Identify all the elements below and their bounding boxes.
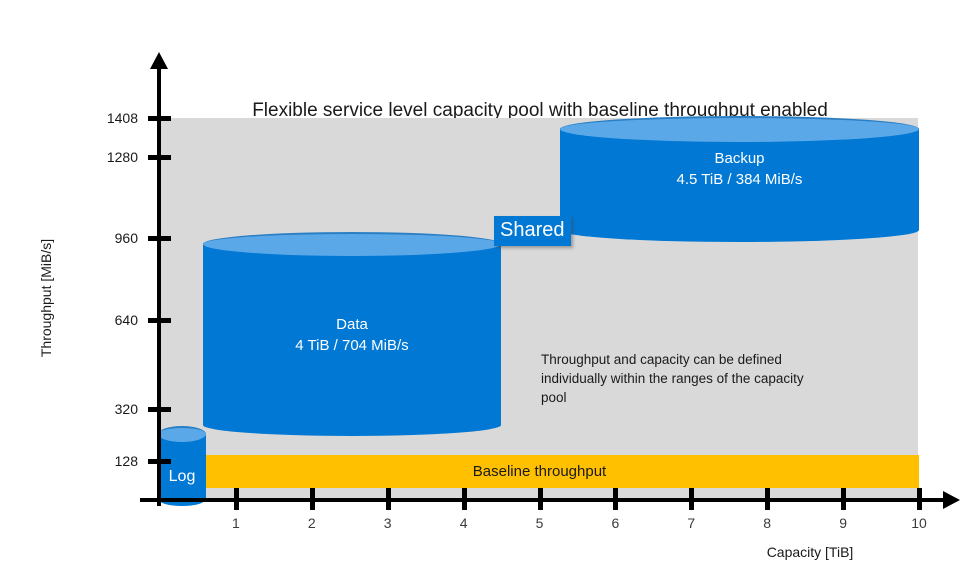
y-axis-tick-mark xyxy=(148,116,171,121)
y-axis-title: Throughput [MiB/s] xyxy=(38,218,54,378)
volume-name: Data xyxy=(203,314,501,335)
y-axis-tick-mark xyxy=(148,236,171,241)
y-axis-line xyxy=(157,66,161,506)
cylinder-bottom-ellipse xyxy=(203,414,501,436)
x-axis-tick-mark xyxy=(386,488,391,510)
volume-spec: 4.5 TiB / 384 MiB/s xyxy=(560,169,919,190)
x-axis-tick-label: 3 xyxy=(368,515,408,531)
annotation-line-3: pool xyxy=(541,388,861,407)
y-axis-tick-label: 1408 xyxy=(82,109,138,127)
x-axis-tick-label: 2 xyxy=(292,515,332,531)
x-axis-tick-label: 6 xyxy=(595,515,635,531)
y-axis-tick-mark xyxy=(148,155,171,160)
pool-annotation-text: Throughput and capacity can be defined i… xyxy=(541,350,861,407)
y-axis-tick-label: 320 xyxy=(82,400,138,418)
y-axis-tick-mark xyxy=(148,459,171,464)
y-axis-tick-mark xyxy=(148,318,171,323)
x-axis-tick-mark xyxy=(538,488,543,510)
y-axis-tick-mark xyxy=(148,407,171,412)
x-axis-line xyxy=(140,498,945,502)
baseline-throughput-label: Baseline throughput xyxy=(160,455,919,488)
volume-label-log: Log xyxy=(158,466,206,487)
x-axis-tick-mark xyxy=(765,488,770,510)
annotation-line-2: individually within the ranges of the ca… xyxy=(541,369,861,388)
x-axis-tick-mark xyxy=(613,488,618,510)
x-axis-tick-label: 8 xyxy=(747,515,787,531)
x-axis-tick-label: 10 xyxy=(899,515,939,531)
volume-label-data: Data 4 TiB / 704 MiB/s xyxy=(203,314,501,356)
volume-name: Backup xyxy=(560,148,919,169)
cylinder-top-ellipse xyxy=(158,426,206,442)
y-axis-tick-label: 128 xyxy=(82,452,138,470)
volume-label-backup: Backup 4.5 TiB / 384 MiB/s xyxy=(560,148,919,190)
x-axis-tick-mark xyxy=(841,488,846,510)
x-axis-title: Capacity [TiB] xyxy=(700,544,920,560)
annotation-line-1: Throughput and capacity can be defined xyxy=(541,350,861,369)
y-axis-arrow-icon xyxy=(150,52,168,69)
baseline-throughput-band: Baseline throughput xyxy=(160,455,919,488)
cylinder-top-ellipse xyxy=(203,232,501,256)
shared-badge: Shared xyxy=(494,216,571,246)
volume-cylinder-data[interactable]: Data 4 TiB / 704 MiB/s xyxy=(203,232,501,432)
volume-spec: 4 TiB / 704 MiB/s xyxy=(203,335,501,356)
x-axis-tick-mark xyxy=(917,488,922,510)
cylinder-top-ellipse xyxy=(560,116,919,142)
cylinder-bottom-ellipse xyxy=(560,218,919,242)
x-axis-tick-label: 7 xyxy=(671,515,711,531)
y-axis-tick-label: 960 xyxy=(82,229,138,247)
x-axis-tick-label: 1 xyxy=(216,515,256,531)
volume-cylinder-log[interactable]: Log xyxy=(158,426,206,506)
volume-cylinder-backup[interactable]: Backup 4.5 TiB / 384 MiB/s xyxy=(560,116,919,238)
y-axis-tick-label: 1280 xyxy=(82,148,138,166)
y-axis-tick-label: 640 xyxy=(82,311,138,329)
x-axis-tick-label: 9 xyxy=(823,515,863,531)
x-axis-tick-label: 5 xyxy=(520,515,560,531)
x-axis-tick-mark xyxy=(689,488,694,510)
x-axis-tick-mark xyxy=(462,488,467,510)
x-axis-tick-mark xyxy=(234,488,239,510)
x-axis-tick-label: 4 xyxy=(444,515,484,531)
x-axis-arrow-icon xyxy=(943,491,960,509)
volume-name: Log xyxy=(158,466,206,487)
x-axis-tick-mark xyxy=(310,488,315,510)
